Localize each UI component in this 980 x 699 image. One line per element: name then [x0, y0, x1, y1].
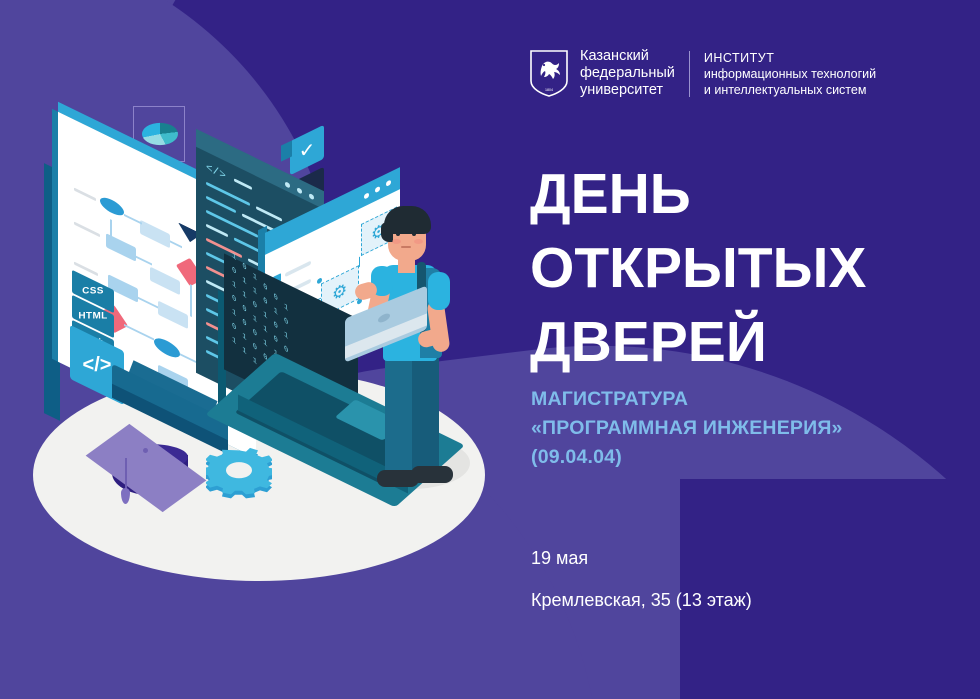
poster-canvas: ✓ ✕: [0, 0, 980, 699]
logo-divider: [689, 51, 690, 97]
gear-3d: [206, 439, 272, 499]
logo-lockup: 1804 Казанский федеральный университет И…: [530, 48, 876, 99]
page-title: ДЕНЬ ОТКРЫТЫХ ДВЕРЕЙ: [530, 157, 960, 379]
university-name: Казанский федеральный университет: [580, 48, 675, 99]
program-subtitle: МАГИСТРАТУРА «ПРОГРАММНАЯ ИНЖЕНЕРИЯ» (09…: [531, 385, 961, 472]
svg-text:1804: 1804: [545, 88, 553, 92]
kfu-shield-zilant-emblem: 1804: [530, 50, 568, 97]
event-address: Кремлевская, 35 (13 этаж): [531, 579, 961, 621]
event-details: 19 мая Кремлевская, 35 (13 этаж): [531, 537, 961, 621]
pie-chart-large: [142, 123, 178, 145]
institute-name: ИНСТИТУТ информационных технологий и инт…: [704, 50, 876, 98]
check-icon: ✓: [290, 133, 324, 167]
shoe-right: [411, 466, 453, 483]
event-date: 19 мая: [531, 537, 961, 579]
